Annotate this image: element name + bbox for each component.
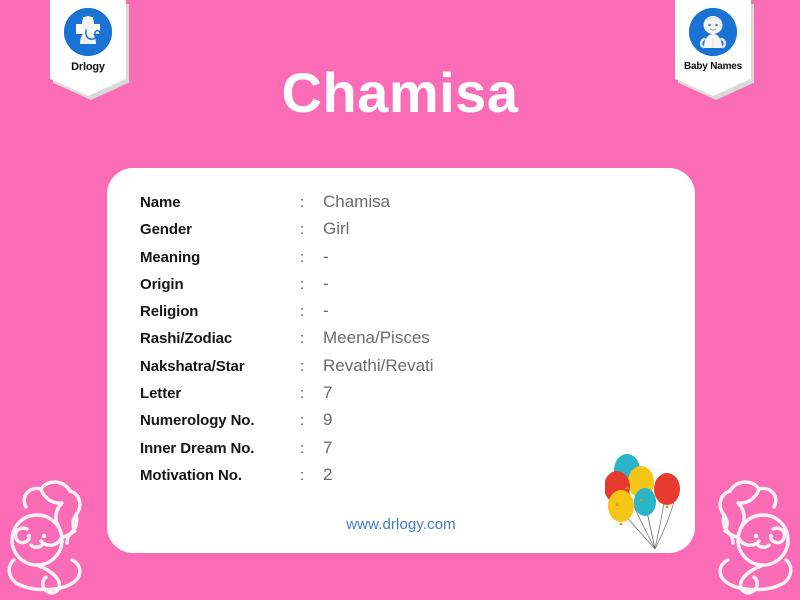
- table-row: Motivation No. : 2: [140, 465, 560, 492]
- row-label: Nakshatra/Star: [140, 358, 300, 375]
- name-detail-table: Name : Chamisa Gender : Girl Meaning : -…: [140, 192, 560, 492]
- table-row: Inner Dream No. : 7: [140, 438, 560, 465]
- table-row: Meaning : -: [140, 247, 560, 274]
- table-row: Name : Chamisa: [140, 192, 560, 219]
- row-label: Numerology No.: [140, 412, 300, 429]
- table-row: Nakshatra/Star : Revathi/Revati: [140, 356, 560, 383]
- row-label: Inner Dream No.: [140, 440, 300, 457]
- row-value: Girl: [323, 219, 349, 239]
- row-separator: :: [300, 221, 323, 238]
- row-separator: :: [300, 412, 323, 429]
- row-value: -: [323, 274, 329, 294]
- row-label: Rashi/Zodiac: [140, 330, 300, 347]
- row-label: Motivation No.: [140, 467, 300, 484]
- mother-and-baby-icon: [0, 474, 104, 600]
- row-separator: :: [300, 467, 323, 484]
- row-separator: :: [300, 303, 323, 320]
- row-value: 7: [323, 438, 332, 458]
- row-separator: :: [300, 276, 323, 293]
- table-row: Gender : Girl: [140, 219, 560, 246]
- page-title: Chamisa: [0, 62, 800, 124]
- row-value: 9: [323, 410, 332, 430]
- mother-and-baby-icon: [696, 474, 800, 600]
- balloons-icon: [605, 449, 691, 553]
- row-separator: :: [300, 249, 323, 266]
- row-separator: :: [300, 358, 323, 375]
- row-label: Meaning: [140, 249, 300, 266]
- table-row: Rashi/Zodiac : Meena/Pisces: [140, 328, 560, 355]
- row-label: Gender: [140, 221, 300, 238]
- drlogy-medical-cross-doctor-icon: [64, 8, 112, 56]
- row-label: Letter: [140, 385, 300, 402]
- poster-canvas: Drlogy Baby Names: [0, 0, 800, 600]
- row-separator: :: [300, 194, 323, 211]
- row-label: Name: [140, 194, 300, 211]
- website-link[interactable]: www.drlogy.com: [107, 516, 695, 533]
- row-separator: :: [300, 385, 323, 402]
- table-row: Religion : -: [140, 301, 560, 328]
- row-value: Chamisa: [323, 192, 390, 212]
- row-value: 2: [323, 465, 332, 485]
- row-value: -: [323, 247, 329, 267]
- row-separator: :: [300, 440, 323, 457]
- row-label: Origin: [140, 276, 300, 293]
- table-row: Letter : 7: [140, 383, 560, 410]
- row-value: Meena/Pisces: [323, 328, 430, 348]
- table-row: Origin : -: [140, 274, 560, 301]
- row-label: Religion: [140, 303, 300, 320]
- table-row: Numerology No. : 9: [140, 410, 560, 437]
- baby-avatar-icon: [689, 8, 737, 56]
- row-value: -: [323, 301, 329, 321]
- row-value: 7: [323, 383, 332, 403]
- row-value: Revathi/Revati: [323, 356, 434, 376]
- name-detail-card: Name : Chamisa Gender : Girl Meaning : -…: [107, 168, 695, 553]
- row-separator: :: [300, 330, 323, 347]
